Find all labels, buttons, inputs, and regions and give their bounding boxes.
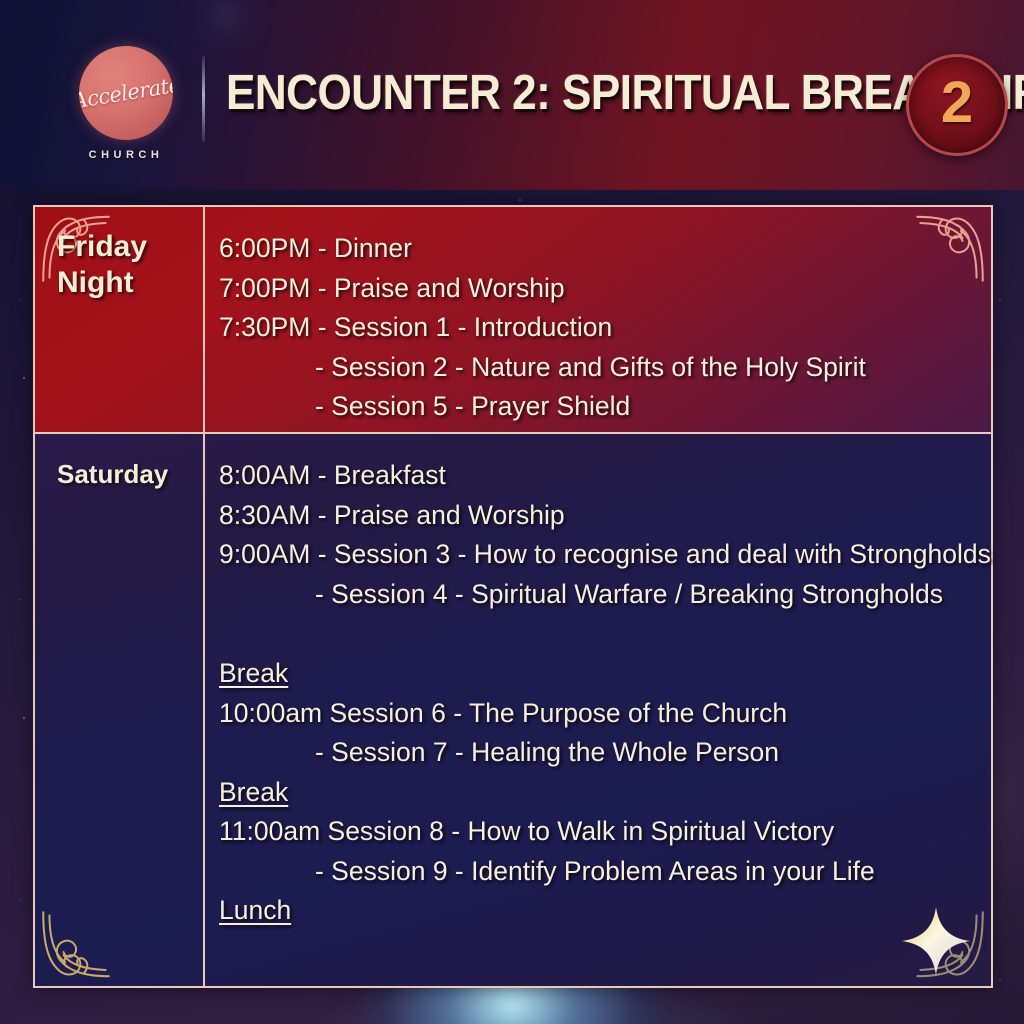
schedule-line: 7:30PM - Session 1 - Introduction xyxy=(219,308,991,348)
schedule-line: 7:00PM - Praise and Worship xyxy=(219,269,991,309)
schedule-table: Friday Night 6:00PM - Dinner 7:00PM - Pr… xyxy=(33,205,993,988)
logo-wordmark: Accelerate xyxy=(79,73,173,114)
schedule-break-label: Break xyxy=(219,654,991,694)
header-banner: Accelerate CHURCH ENCOUNTER 2: SPIRITUAL… xyxy=(0,0,1024,190)
schedule-line: - Session 2 - Nature and Gifts of the Ho… xyxy=(219,348,991,388)
schedule-line: 8:00AM - Breakfast xyxy=(219,456,991,496)
break-text: Break xyxy=(219,658,288,688)
schedule-line: 11:00am Session 8 - How to Walk in Spiri… xyxy=(219,812,991,852)
schedule-items-friday: 6:00PM - Dinner 7:00PM - Praise and Wors… xyxy=(205,207,991,432)
header-divider xyxy=(202,56,205,142)
schedule-line: - Session 4 - Spiritual Warfare / Breaki… xyxy=(219,575,991,615)
table-row-saturday: Saturday 8:00AM - Breakfast 8:30AM - Pra… xyxy=(35,434,991,986)
day-label-cell-saturday: Saturday xyxy=(35,434,205,986)
brand-logo: Accelerate CHURCH xyxy=(74,46,178,161)
schedule-line: 9:00AM - Session 3 - How to recognise an… xyxy=(219,535,991,575)
schedule-items-saturday: 8:00AM - Breakfast 8:30AM - Praise and W… xyxy=(205,434,991,986)
badge-number: 2 xyxy=(941,74,973,132)
day-label-cell-friday: Friday Night xyxy=(35,207,205,432)
day-label: Saturday xyxy=(57,456,203,492)
logo-subtitle: CHURCH xyxy=(74,149,178,161)
schedule-line: - Session 5 - Prayer Shield xyxy=(219,387,991,427)
break-text: Break xyxy=(219,777,288,807)
schedule-line: - Session 9 - Identify Problem Areas in … xyxy=(219,852,991,892)
page-title: ENCOUNTER 2: SPIRITUAL BREAKTHROUGH xyxy=(226,64,1024,122)
schedule-lunch-label: Lunch xyxy=(219,891,991,931)
schedule-line: - Session 7 - Healing the Whole Person xyxy=(219,733,991,773)
schedule-line: 8:30AM - Praise and Worship xyxy=(219,496,991,536)
poster-canvas: Accelerate CHURCH ENCOUNTER 2: SPIRITUAL… xyxy=(0,0,1024,1024)
day-label: Friday Night xyxy=(57,229,203,301)
logo-circle-icon: Accelerate xyxy=(79,46,173,140)
schedule-line: 10:00am Session 6 - The Purpose of the C… xyxy=(219,694,991,734)
schedule-spacer xyxy=(219,614,991,654)
table-row-friday: Friday Night 6:00PM - Dinner 7:00PM - Pr… xyxy=(35,207,991,434)
schedule-line: 6:00PM - Dinner xyxy=(219,229,991,269)
lunch-text: Lunch xyxy=(219,895,291,925)
encounter-number-badge: 2 xyxy=(906,54,1008,156)
schedule-break-label: Break xyxy=(219,773,991,813)
